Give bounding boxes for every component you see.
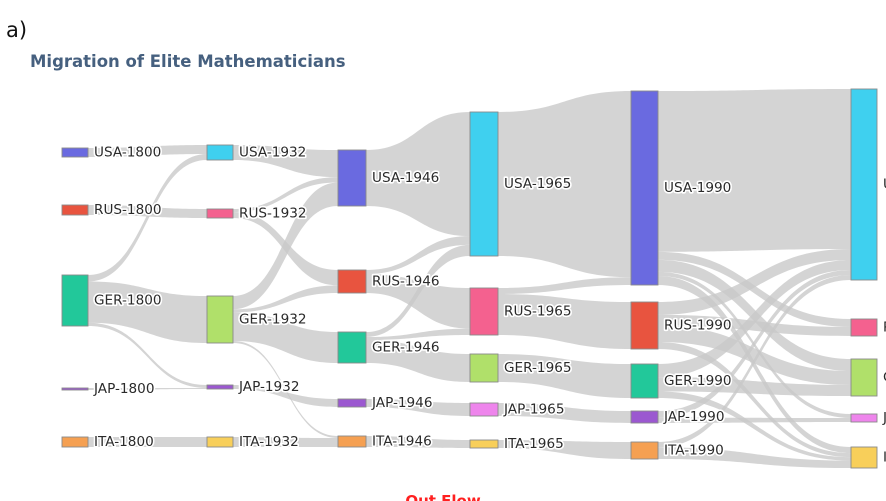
- sankey-node-ita-2019[interactable]: [851, 447, 877, 468]
- footer-note: Out Flow: [0, 492, 886, 501]
- sankey-node-rus-2019[interactable]: [851, 319, 877, 336]
- sankey-node-jap-1800[interactable]: [62, 388, 88, 390]
- sankey-node-usa-1965[interactable]: [470, 112, 498, 256]
- sankey-node-label-rus-1932: RUS-1932: [239, 206, 307, 222]
- sankey-node-label-rus-1965: RUS-1965: [504, 304, 572, 320]
- sankey-link: [498, 294, 631, 349]
- sankey-node-label-ita-1965: ITA-1965: [504, 436, 564, 452]
- sankey-node-rus-1932[interactable]: [207, 209, 233, 218]
- figure-root: a) Migration of Elite Mathematicians USA…: [0, 0, 886, 501]
- sankey-node-label-jap-1946: JAP-1946: [371, 395, 432, 411]
- sankey-node-ita-1932[interactable]: [207, 437, 233, 447]
- sankey-node-label-usa-1990: USA-1990: [664, 180, 731, 196]
- sankey-node-jap-1932[interactable]: [207, 385, 233, 389]
- sankey-link: [658, 89, 851, 252]
- sankey-node-label-jap-1965: JAP-1965: [503, 402, 564, 418]
- sankey-node-ger-1990[interactable]: [631, 364, 658, 398]
- sankey-node-ita-1990[interactable]: [631, 442, 658, 459]
- sankey-node-label-ita-1800: ITA-1800: [94, 434, 154, 450]
- sankey-node-usa-1990[interactable]: [631, 91, 658, 285]
- sankey-node-label-rus-1946: RUS-1946: [372, 274, 440, 290]
- sankey-node-label-usa-1965: USA-1965: [504, 176, 571, 192]
- sankey-node-label-ger-1965: GER-1965: [504, 360, 572, 376]
- sankey-node-jap-1990[interactable]: [631, 411, 658, 423]
- sankey-node-usa-2019[interactable]: [851, 89, 877, 280]
- sankey-node-label-usa-1800: USA-1800: [94, 145, 161, 161]
- sankey-node-label-ger-1800: GER-1800: [94, 293, 162, 309]
- sankey-node-label-jap-1800: JAP-1800: [93, 381, 154, 397]
- sankey-node-ita-1946[interactable]: [338, 436, 366, 447]
- sankey-node-label-rus-1990: RUS-1990: [664, 318, 732, 334]
- sankey-node-usa-1800[interactable]: [62, 148, 88, 157]
- sankey-node-ger-2019[interactable]: [851, 359, 877, 396]
- sankey-node-usa-1932[interactable]: [207, 145, 233, 160]
- sankey-link: [88, 282, 207, 343]
- sankey-node-rus-1800[interactable]: [62, 205, 88, 215]
- sankey-node-usa-1946[interactable]: [338, 150, 366, 206]
- sankey-node-jap-1965[interactable]: [470, 403, 498, 416]
- sankey-node-label-jap-1990: JAP-1990: [663, 409, 724, 425]
- sankey-node-label-jap-1932: JAP-1932: [238, 379, 299, 395]
- sankey-node-label-ger-1990: GER-1990: [664, 373, 732, 389]
- sankey-node-label-usa-1932: USA-1932: [239, 145, 306, 161]
- sankey-link: [498, 277, 631, 294]
- sankey-node-ger-1932[interactable]: [207, 296, 233, 343]
- sankey-node-jap-1946[interactable]: [338, 399, 366, 407]
- sankey-node-ger-1965[interactable]: [470, 354, 498, 382]
- sankey-node-rus-1946[interactable]: [338, 270, 366, 293]
- sankey-node-ger-1800[interactable]: [62, 275, 88, 326]
- sankey-node-label-ger-1932: GER-1932: [239, 312, 307, 328]
- sankey-node-label-ita-1946: ITA-1946: [372, 434, 432, 450]
- sankey-links-layer: [88, 89, 851, 468]
- sankey-diagram: USA-1800RUS-1800GER-1800JAP-1800ITA-1800…: [0, 0, 886, 501]
- sankey-node-jap-2019[interactable]: [851, 414, 877, 422]
- sankey-node-label-rus-1800: RUS-1800: [94, 202, 162, 218]
- sankey-node-rus-1990[interactable]: [631, 302, 658, 349]
- sankey-node-ita-1800[interactable]: [62, 437, 88, 447]
- sankey-node-label-jap-2019: JAP-2019: [882, 410, 886, 426]
- sankey-node-label-usa-1946: USA-1946: [372, 170, 439, 186]
- sankey-node-ger-1946[interactable]: [338, 332, 366, 363]
- sankey-node-label-ita-1990: ITA-1990: [664, 443, 724, 459]
- sankey-node-label-ger-1946: GER-1946: [372, 340, 440, 356]
- sankey-node-label-ita-1932: ITA-1932: [239, 434, 299, 450]
- sankey-node-rus-1965[interactable]: [470, 288, 498, 335]
- sankey-node-ita-1965[interactable]: [470, 440, 498, 448]
